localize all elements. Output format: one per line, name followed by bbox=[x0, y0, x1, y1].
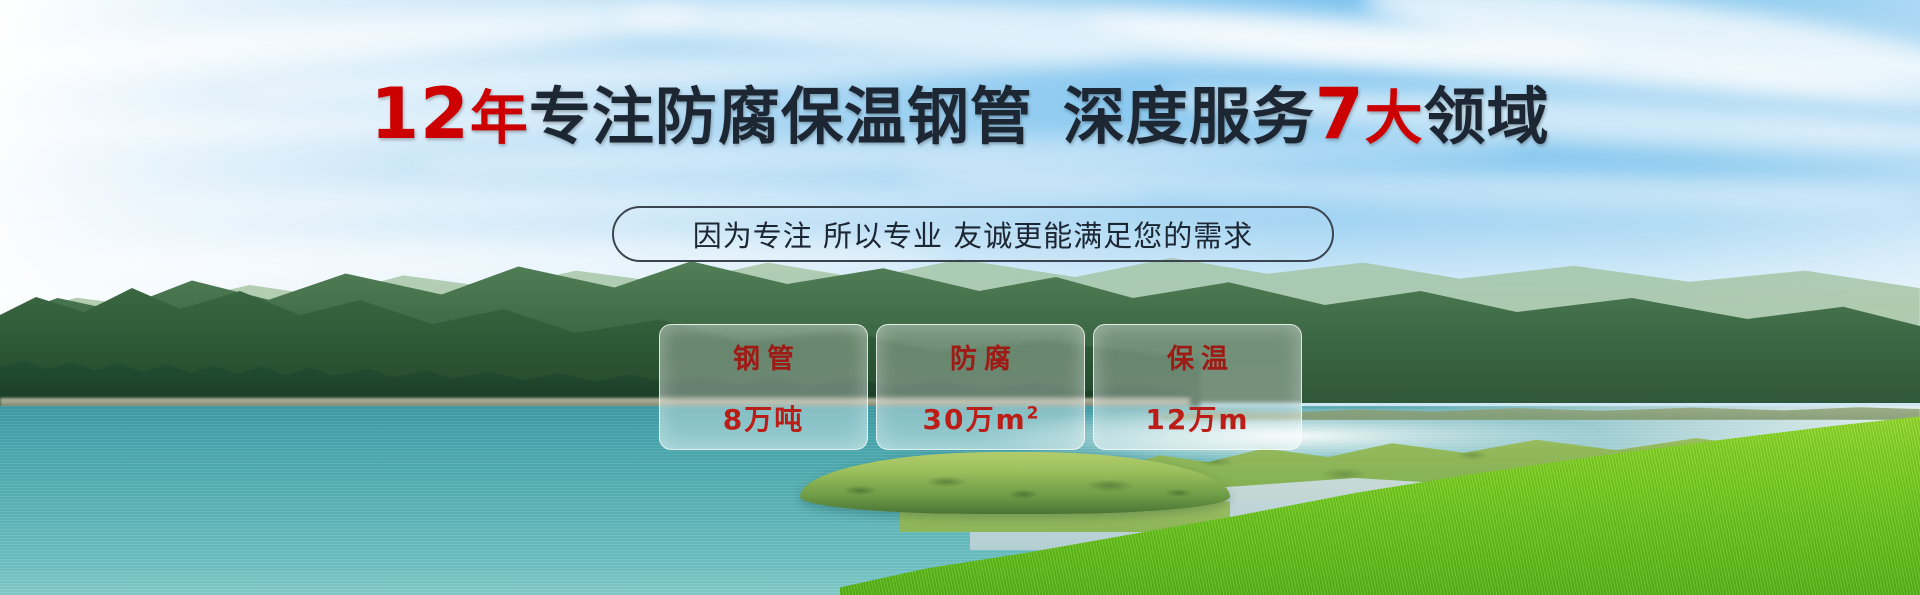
stat-card-anticorrosion[interactable]: 防腐 30万m2 bbox=[876, 324, 1085, 450]
stat-card-group: 钢管 8万吨 防腐 30万m2 保温 12万m bbox=[659, 324, 1302, 450]
stat-card-insulation[interactable]: 保温 12万m bbox=[1093, 324, 1302, 450]
headline-years-number: 12 bbox=[370, 73, 469, 155]
headline-fields-number: 7 bbox=[1315, 73, 1365, 155]
subtitle-pill: 因为专注 所以专业 友诚更能满足您的需求 bbox=[612, 206, 1334, 262]
stat-card-value: 12万m bbox=[1145, 398, 1249, 438]
stat-card-title: 钢管 bbox=[726, 337, 801, 376]
headline-service-text: 深度服务 bbox=[1063, 80, 1315, 153]
subtitle-text: 因为专注 所以专业 友诚更能满足您的需求 bbox=[693, 213, 1253, 255]
headline-fields-text: 领域 bbox=[1424, 80, 1550, 153]
stat-card-value: 8万吨 bbox=[723, 398, 804, 438]
headline-fields-unit: 大 bbox=[1365, 84, 1424, 152]
headline-years-unit: 年 bbox=[470, 84, 529, 152]
stat-card-value: 30万m2 bbox=[923, 398, 1039, 438]
hero-banner: 12年专注防腐保温钢管深度服务7大领域 因为专注 所以专业 友诚更能满足您的需求… bbox=[0, 0, 1920, 595]
stat-card-value-text: 30万m bbox=[923, 403, 1027, 436]
stat-card-title: 防腐 bbox=[943, 337, 1018, 376]
headline-main-text: 专注防腐保温钢管 bbox=[529, 80, 1033, 153]
stat-card-value-superscript: 2 bbox=[1027, 403, 1039, 423]
stat-card-value-text: 12万m bbox=[1145, 403, 1249, 436]
stat-card-value-text: 8万吨 bbox=[723, 403, 804, 436]
stat-card-title: 保温 bbox=[1160, 337, 1235, 376]
banner-headline: 12年专注防腐保温钢管深度服务7大领域 bbox=[0, 78, 1920, 154]
stat-card-steel-pipe[interactable]: 钢管 8万吨 bbox=[659, 324, 868, 450]
